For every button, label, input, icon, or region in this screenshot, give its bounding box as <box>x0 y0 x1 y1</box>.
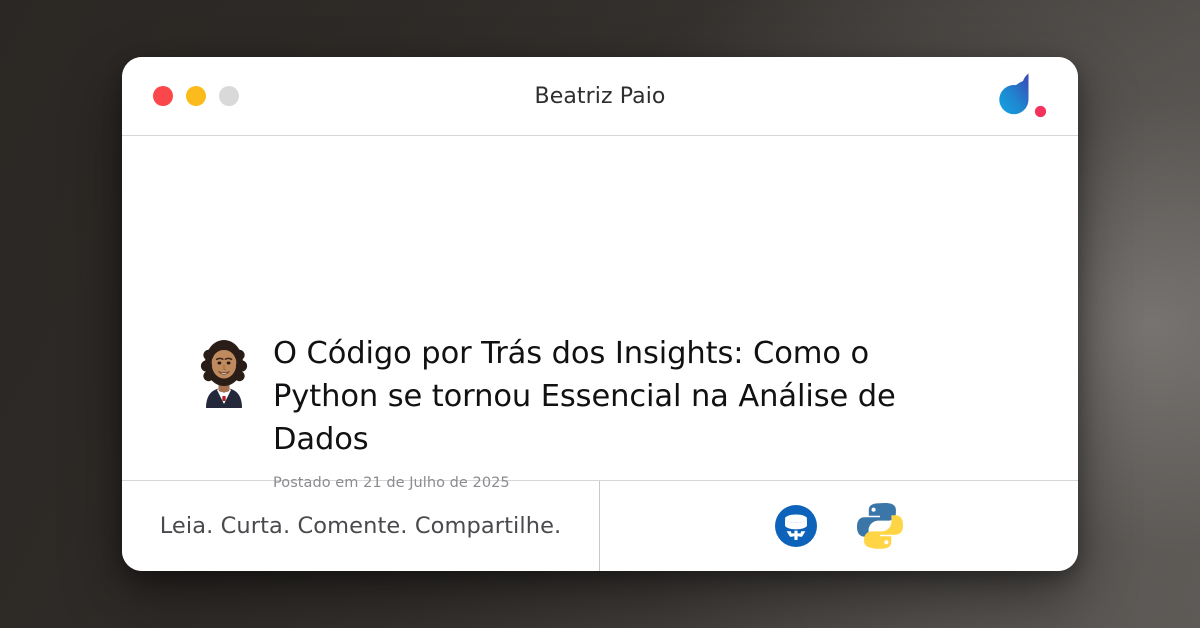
post-text-block: O Código por Trás dos Insights: Como o P… <box>273 330 1018 491</box>
maximize-button[interactable] <box>219 86 239 106</box>
footer-tagline: Leia. Curta. Comente. Compartilhe. <box>160 513 562 539</box>
screenshot-canvas: Beatriz Paio <box>0 0 1200 628</box>
post-preview: O Código por Trás dos Insights: Como o P… <box>195 330 1018 491</box>
window-controls <box>153 86 239 106</box>
brand-d-dot-logo <box>990 73 1046 119</box>
browser-window-card: Beatriz Paio <box>122 57 1078 571</box>
close-button[interactable] <box>153 86 173 106</box>
window-titlebar: Beatriz Paio <box>122 57 1078 136</box>
footer-tagline-area: Leia. Curta. Comente. Compartilhe. <box>122 481 600 571</box>
post-title: O Código por Trás dos Insights: Como o P… <box>273 332 983 461</box>
post-date: Postado em 21 de Julho de 2025 <box>273 475 1018 491</box>
card-footer: Leia. Curta. Comente. Compartilhe. <box>122 480 1078 571</box>
minimize-button[interactable] <box>186 86 206 106</box>
python-icon[interactable] <box>855 501 905 551</box>
footer-tech-icons <box>600 481 1078 571</box>
author-avatar-photo <box>195 336 253 408</box>
window-title: Beatriz Paio <box>122 84 1078 109</box>
database-icon[interactable] <box>774 504 818 548</box>
window-content: O Código por Trás dos Insights: Como o P… <box>122 136 1078 480</box>
